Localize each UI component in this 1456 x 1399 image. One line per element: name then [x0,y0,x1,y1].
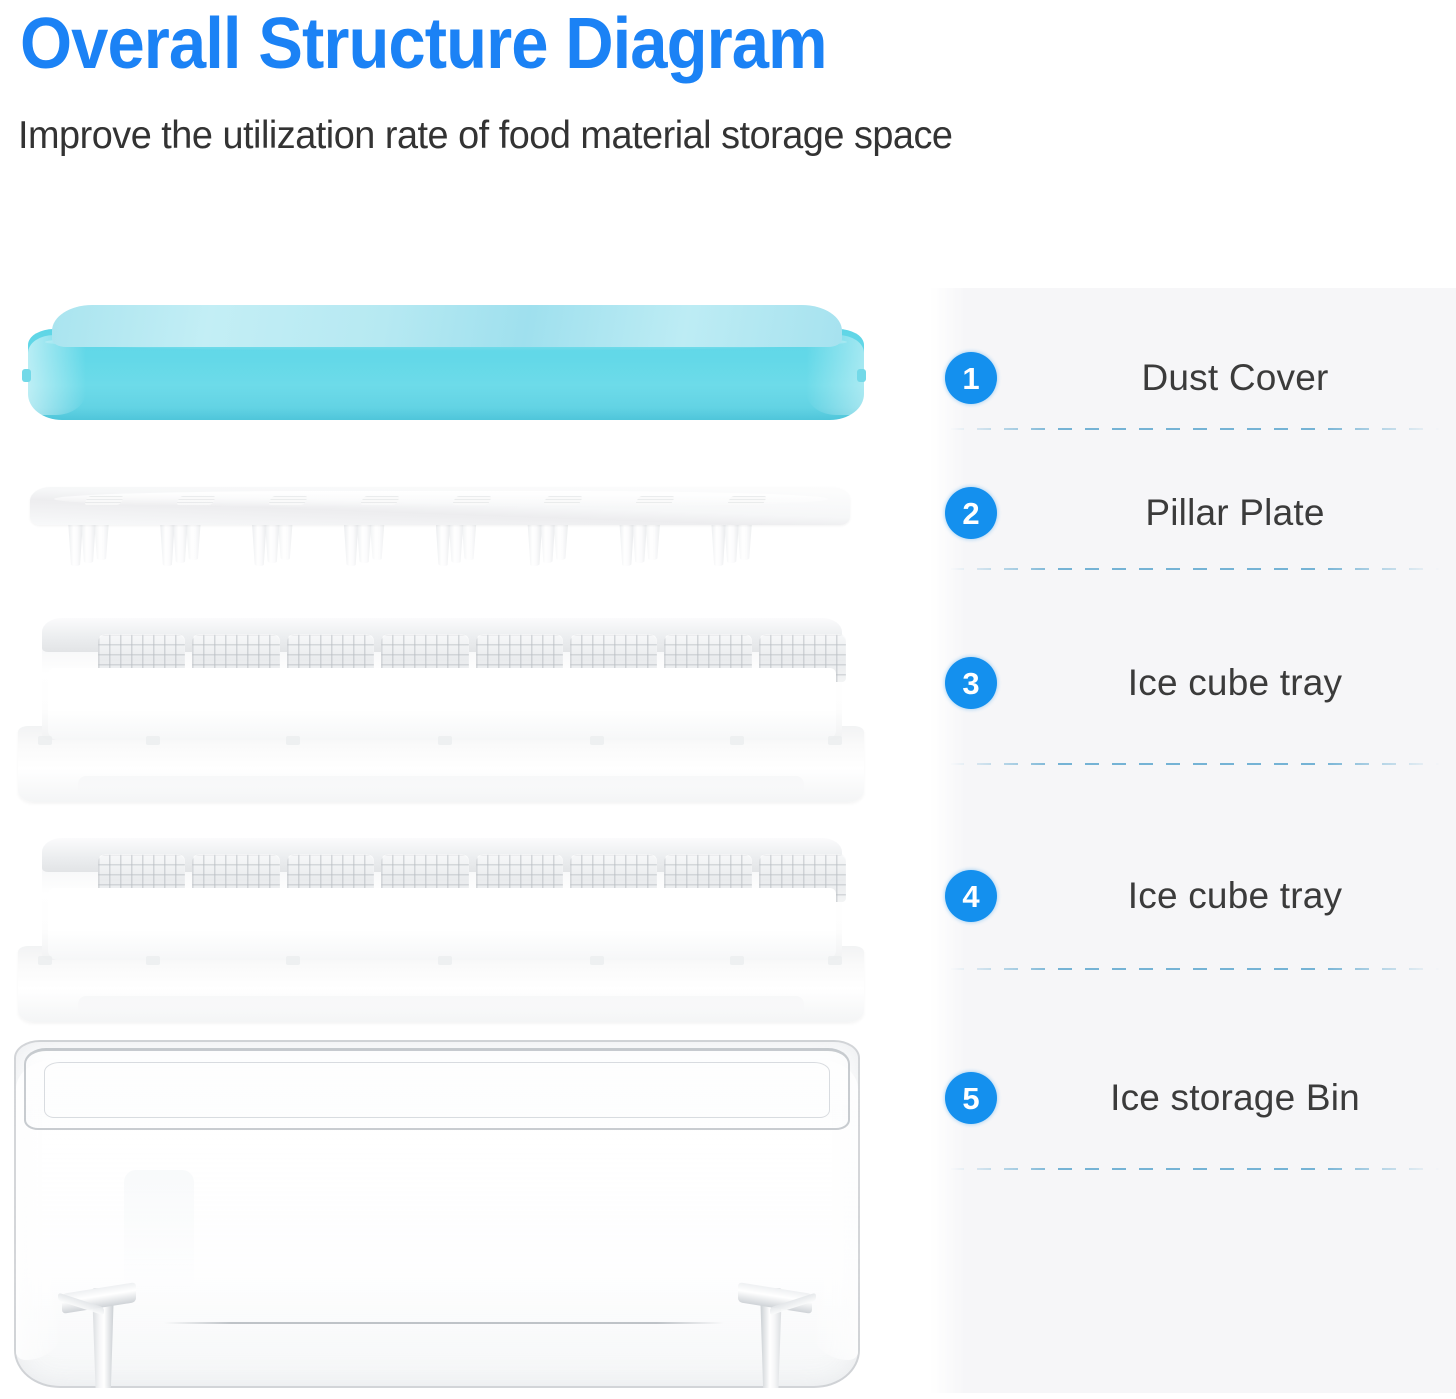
part-ice-storage-bin [14,1040,860,1390]
pillar [160,520,175,566]
tray-foot [438,956,452,965]
legend-label-4: Ice cube tray [1025,872,1445,920]
tray-foot [38,736,52,745]
legend-label-5: Ice storage Bin [1025,1074,1445,1122]
legend-badge-4: 4 [945,870,997,922]
dust-cover-tab-left [22,369,31,382]
pillar [527,520,542,566]
legend-badge-3: 3 [945,657,997,709]
pillar [173,520,188,563]
pillar [737,520,752,560]
product-exploded-view [0,0,930,1399]
legend-badge-5: 5 [945,1072,997,1124]
legend-badge-2: 2 [945,487,997,539]
legend-label-3: Ice cube tray [1025,659,1445,707]
pillar [449,520,464,563]
plate-slot [84,496,124,505]
legend-label-1: Dust Cover [1025,354,1445,402]
dust-cover-top-face [52,305,842,347]
tray-foot [146,736,160,745]
legend-divider [950,968,1440,970]
part-ice-cube-tray-lower [18,832,864,1022]
bin-support-bracket-left [62,1288,148,1396]
tray-foot [38,956,52,965]
pillar [357,520,372,563]
plate-slot [176,496,216,505]
legend-divider [950,428,1440,430]
pillar [186,520,201,560]
part-dust-cover [14,305,864,420]
pillar [68,520,83,566]
legend-item-3: 3Ice cube tray [930,643,1456,723]
part-ice-cube-tray-upper [18,612,864,802]
plate-slot [543,496,583,505]
pillar [619,520,634,566]
legend-item-2: 2Pillar Plate [930,473,1456,553]
tray-foot [730,956,744,965]
pillar [711,520,726,566]
pillar [645,520,660,560]
pillar [94,520,109,560]
tray-foot [286,956,300,965]
tray-foot [590,956,604,965]
pillar [724,520,739,563]
bin-floor-edge [164,1322,724,1324]
tray-front-wall-lower [48,888,836,960]
pillar [553,520,568,560]
plate-slot [635,496,675,505]
legend-badge-1: 1 [945,352,997,404]
dust-cover-tab-right [857,369,866,382]
tray-foot [146,956,160,965]
pillar [265,520,280,563]
bin-rim-inner-edge [44,1062,830,1118]
dust-cover-highlight-left [28,335,86,415]
tray-foot [730,736,744,745]
pillar [540,520,555,563]
bin-inner-reflection [124,1170,194,1290]
bin-support-bracket-right [726,1288,812,1396]
tray-foot [828,956,842,965]
legend-item-1: 1Dust Cover [930,338,1456,418]
tray-rim-lower [42,838,842,872]
part-pillar-plate [30,487,850,562]
pillar [436,520,451,566]
tray-foot [590,736,604,745]
pillar [252,520,267,566]
legend-label-2: Pillar Plate [1025,489,1445,537]
pillar [278,520,293,560]
pillar [632,520,647,563]
legend-divider [950,763,1440,765]
pillar-plate-slab [30,487,850,525]
legend-item-4: 4Ice cube tray [930,856,1456,936]
legend-divider [950,1168,1440,1170]
pillar [370,520,385,560]
pillar [81,520,96,563]
tray-foot [438,736,452,745]
plate-slot [451,496,491,505]
tray-rim-upper [42,618,842,652]
legend-item-5: 5Ice storage Bin [930,1058,1456,1138]
tray-foot [828,736,842,745]
legend-panel: 1Dust Cover2Pillar Plate3Ice cube tray4I… [930,288,1456,1393]
dust-cover-highlight-right [806,335,864,415]
pillar [344,520,359,566]
plate-slot [268,496,308,505]
plate-slot [359,496,399,505]
plate-slot [727,496,767,505]
pillar [462,520,477,560]
tray-foot [286,736,300,745]
tray-front-wall-upper [48,668,836,740]
legend-divider [950,568,1440,570]
